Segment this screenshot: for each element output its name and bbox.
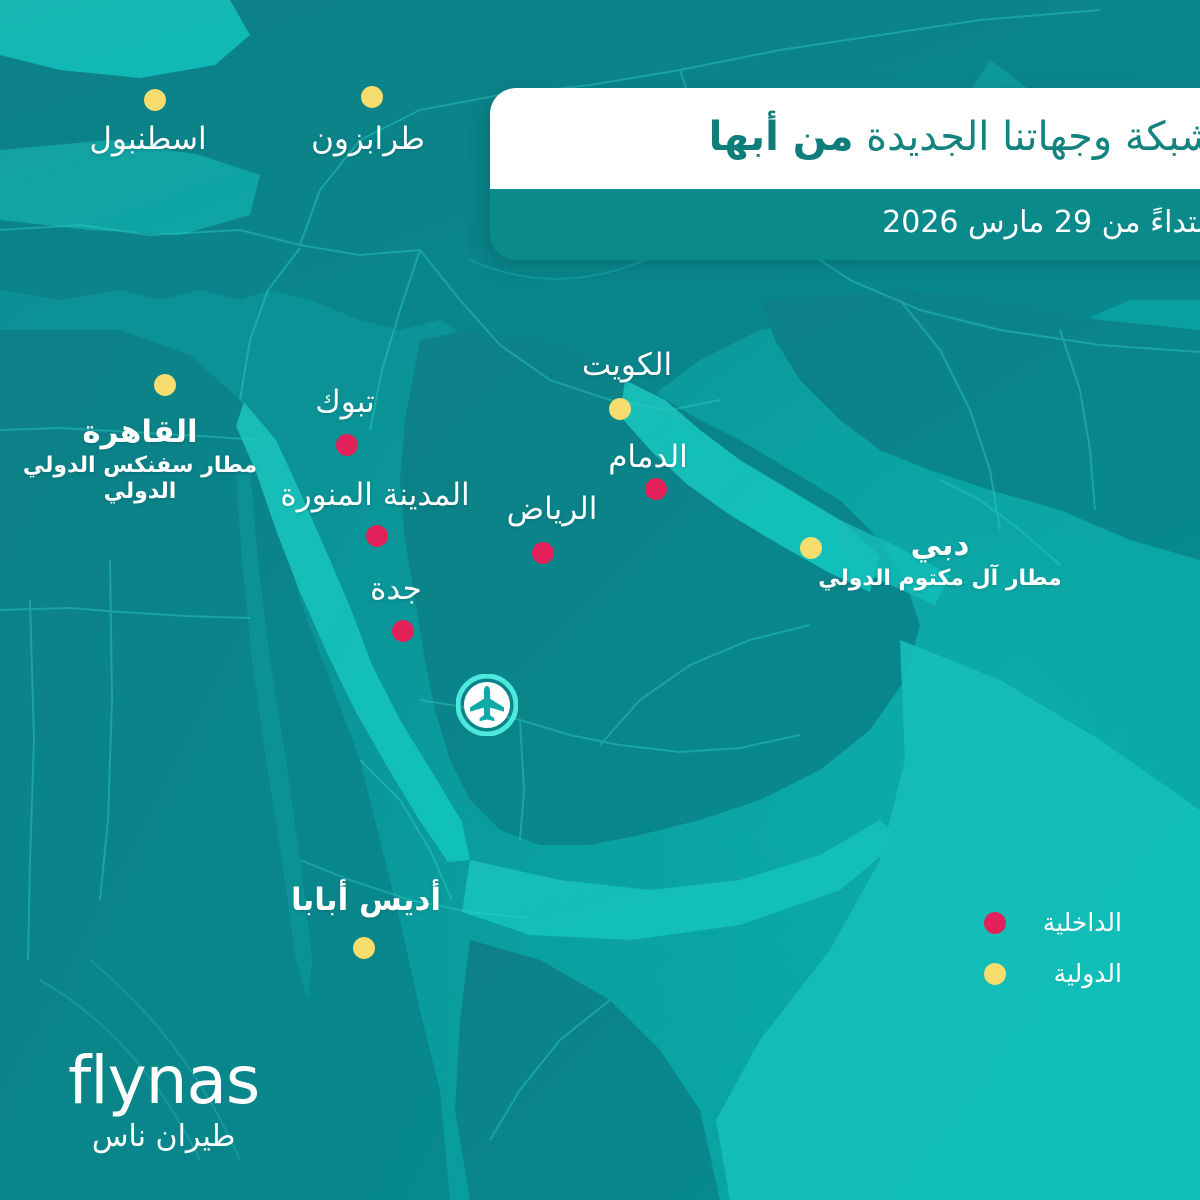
page-title: شبكة وجهاتنا الجديدة من أبها: [524, 114, 1200, 161]
legend-dot-international-icon: [984, 963, 1006, 985]
city-airport-name-line2: الدولي: [23, 479, 257, 505]
title-plain: شبكة وجهاتنا الجديدة: [853, 114, 1200, 160]
city-airport-name: مطار آل مكتوم الدولي: [818, 566, 1062, 592]
legend: الداخلية الدولية: [984, 908, 1122, 988]
city-name: الكويت: [582, 348, 672, 383]
city-label-dubai: دبي مطار آل مكتوم الدولي: [818, 528, 1062, 592]
city-dot-jeddah: [392, 620, 414, 642]
airplane-icon: [456, 674, 518, 736]
city-name: المدينة المنورة: [280, 478, 469, 513]
city-dot-dammam: [645, 478, 667, 500]
city-dot-kuwait: [609, 398, 631, 420]
city-label-tabuk: تبوك: [315, 385, 375, 420]
banner-subtitle-area: ابتداءً من 29 مارس 2026: [490, 189, 1200, 260]
city-label-kuwait: الكويت: [582, 348, 672, 383]
city-name: طرابزون: [311, 122, 425, 157]
header-banner: شبكة وجهاتنا الجديدة من أبها ابتداءً من …: [490, 88, 1200, 260]
city-dot-istanbul: [144, 89, 166, 111]
city-dot-riyadh: [532, 542, 554, 564]
city-label-istanbul: اسطنبول: [89, 122, 206, 157]
city-dot-madinah: [366, 525, 388, 547]
city-name: القاهرة: [23, 415, 257, 450]
city-name: اسطنبول: [89, 122, 206, 157]
banner-subtitle: ابتداءً من 29 مارس 2026: [524, 205, 1200, 240]
logo-wordmark: flynas: [68, 1048, 259, 1114]
city-label-addis-ababa: أديس أبابا: [291, 883, 441, 918]
city-label-riyadh: الرياض: [507, 492, 598, 527]
banner-title-area: شبكة وجهاتنا الجديدة من أبها: [490, 88, 1200, 189]
city-label-dammam: الدمام: [608, 440, 688, 475]
city-dot-cairo: [154, 374, 176, 396]
infographic-canvas: شبكة وجهاتنا الجديدة من أبها ابتداءً من …: [0, 0, 1200, 1200]
legend-label-international: الدولية: [1024, 959, 1122, 988]
city-dot-trabzon: [361, 86, 383, 108]
title-highlight: من أبها: [709, 114, 854, 160]
city-label-cairo: القاهرة مطار سفنكس الدولي الدولي: [23, 415, 257, 506]
abha-hub-marker: [456, 674, 518, 736]
city-label-jeddah: جدة: [370, 572, 422, 607]
city-label-trabzon: طرابزون: [311, 122, 425, 157]
flynas-logo: flynas طيران ناس: [68, 1048, 259, 1152]
logo-arabic-wordmark: طيران ناس: [68, 1122, 259, 1152]
city-name: جدة: [370, 572, 422, 607]
legend-label-domestic: الداخلية: [1024, 908, 1122, 937]
city-name: الدمام: [608, 440, 688, 475]
city-name: الرياض: [507, 492, 598, 527]
city-name: تبوك: [315, 385, 375, 420]
city-dot-addis: [353, 937, 375, 959]
city-label-madinah: المدينة المنورة: [280, 478, 469, 513]
city-name: أديس أبابا: [291, 883, 441, 918]
city-airport-name: مطار سفنكس الدولي: [23, 453, 257, 479]
city-name: دبي: [818, 528, 1062, 563]
legend-item-domestic: الداخلية: [984, 908, 1122, 937]
legend-dot-domestic-icon: [984, 912, 1006, 934]
city-dot-tabuk: [336, 434, 358, 456]
legend-item-international: الدولية: [984, 959, 1122, 988]
